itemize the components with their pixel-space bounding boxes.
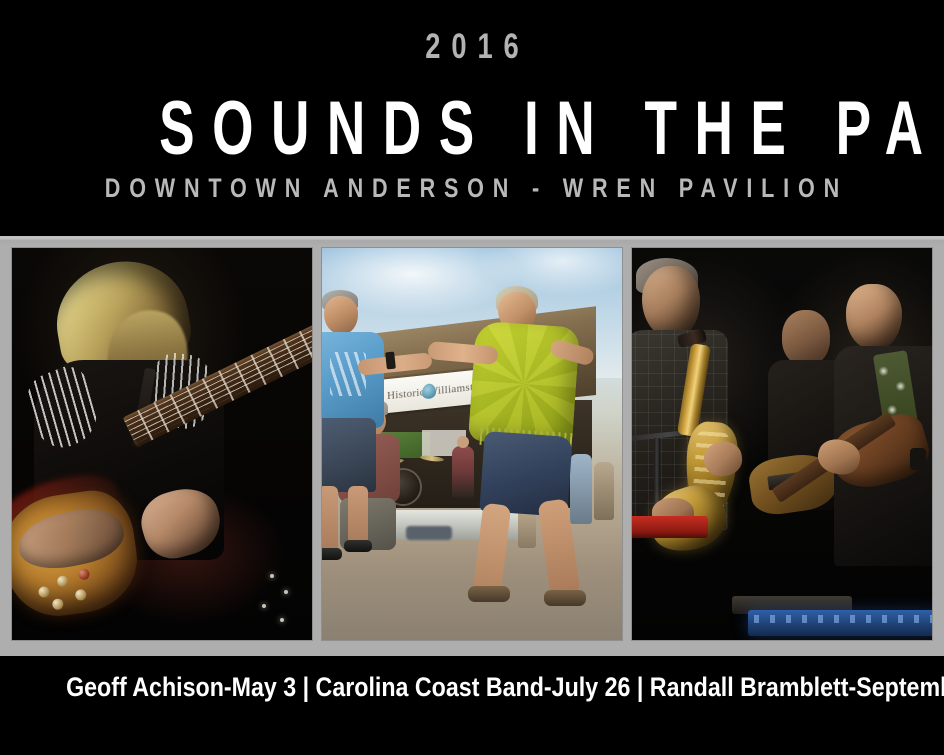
photo-guitarist-solo (12, 248, 312, 640)
stage-light-speck (270, 574, 274, 578)
sax-player-head (642, 266, 700, 338)
male-dancer-leg (322, 486, 338, 552)
male-dancer-shirt-print (330, 352, 366, 396)
male-dancer-head (324, 296, 358, 334)
female-dancer-sandal (468, 586, 510, 602)
blue-stage-light-bar (748, 610, 932, 636)
photo-guitarist-solo-inner (12, 248, 312, 640)
female-dancer-sandal (544, 590, 586, 606)
poster-subtitle: DOWNTOWN ANDERSON - WREN PAVILION (94, 172, 849, 204)
lineup-text: Geoff Achison-May 3 | Carolina Coast Ban… (66, 670, 878, 704)
guitarist-head (846, 284, 902, 350)
red-keyboard (632, 516, 708, 538)
poster-year: 2016 (104, 26, 840, 68)
poster-title: SOUNDS IN THE PARK (142, 86, 803, 172)
stage-light-speck (284, 590, 288, 594)
poster-header: 2016 SOUNDS IN THE PARK DOWNTOWN ANDERSO… (0, 0, 944, 236)
photo-frame-band: Historic Williamston (0, 236, 944, 656)
crowd-figure (594, 462, 614, 520)
stage-light-speck (262, 604, 266, 608)
guitar-knob (57, 575, 69, 587)
crowd-figure (570, 454, 592, 524)
concert-series-poster: 2016 SOUNDS IN THE PARK DOWNTOWN ANDERSO… (0, 0, 944, 755)
poster-footer: Geoff Achison-May 3 | Carolina Coast Ban… (0, 656, 944, 755)
cymbal (420, 455, 444, 463)
stage-light-speck (280, 618, 284, 622)
guitar-knob (38, 586, 50, 598)
male-dancer-leg (348, 486, 368, 544)
male-dancer-shoe (344, 540, 372, 552)
bassist-head (782, 310, 830, 366)
photo-street-dancers: Historic Williamston (322, 248, 622, 640)
male-dancer-watch (385, 352, 396, 370)
photo-street-dancers-inner: Historic Williamston (322, 248, 622, 640)
photo-row: Historic Williamston (0, 236, 944, 656)
stage-front-bag (406, 526, 452, 540)
photo-sax-and-guitar (632, 248, 932, 640)
guitar-knob (78, 568, 90, 580)
guitar-knob (75, 589, 87, 601)
male-dancer-shorts (322, 418, 376, 492)
stage-band-member (452, 446, 474, 498)
guitarist-wristband (910, 448, 926, 470)
male-dancer-shoe (322, 548, 342, 560)
photo-sax-and-guitar-inner (632, 248, 932, 640)
